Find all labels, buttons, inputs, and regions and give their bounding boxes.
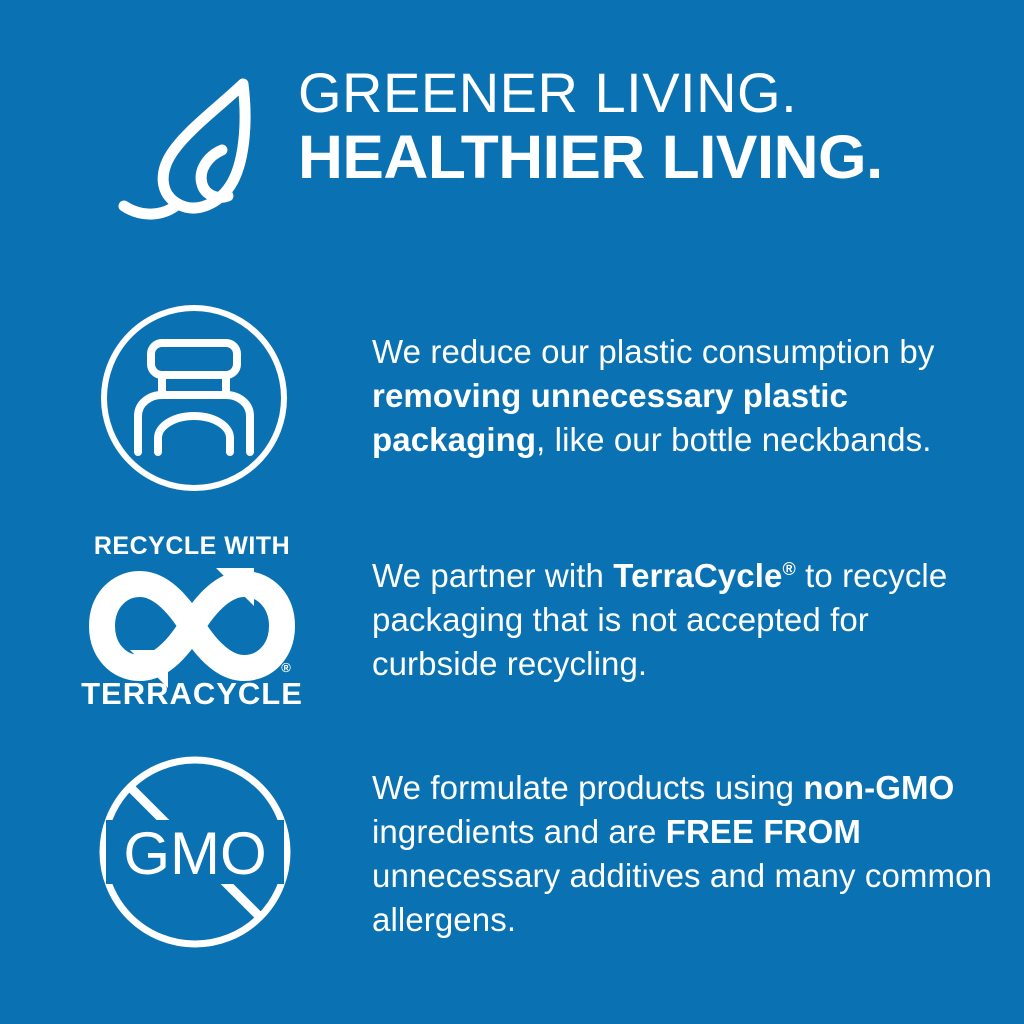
text-segment: unnecessary additives and many common al… [372,857,992,938]
terracycle-top-label: RECYCLE WITH [94,532,290,560]
text-segment: We reduce our plastic consumption by [372,333,934,370]
no-gmo-icon: GMO [92,752,298,952]
feature-row-gmo: GMO We formulate products using non-GMO … [0,752,1024,957]
text-segment: We formulate products using [372,769,803,806]
text-segment-bold: TerraCycle [613,557,782,594]
feature-row-plastic: We reduce our plastic consumption by rem… [0,300,1024,500]
gmo-label: GMO [123,820,266,887]
text-segment: ingredients and are [372,813,666,850]
header: GREENER LIVING. HEALTHIER LIVING. [0,62,1024,232]
greener-living-infographic: GREENER LIVING. HEALTHIER LIVING. We red… [0,0,1024,1024]
headline-line-1: GREENER LIVING. [298,62,998,124]
text-segment-bold: non-GMO [803,769,954,806]
terracycle-registered-mark: ® [281,660,291,675]
terracycle-logo-icon: RECYCLE WITH ® TERRACYCLE [84,532,300,708]
feature-row-terracycle: RECYCLE WITH ® TERRACYCLE We partner wit… [0,532,1024,712]
feature-text-plastic: We reduce our plastic consumption by rem… [372,330,1002,462]
terracycle-bottom-label: TERRACYCLE [81,676,303,711]
text-segment-bold: FREE FROM [666,813,861,850]
bottle-neckband-icon [96,300,292,496]
headline-line-2: HEALTHIER LIVING. [298,124,1012,190]
leaf-icon [112,76,292,226]
feature-text-gmo: We formulate products using non-GMO ingr… [372,766,1002,942]
text-segment: , like our bottle neckbands. [536,421,931,458]
feature-text-terracycle: We partner with TerraCycle® to recycle p… [372,554,1002,686]
header-text: GREENER LIVING. HEALTHIER LIVING. [298,62,998,190]
registered-mark: ® [782,559,795,579]
text-segment: We partner with [372,557,613,594]
